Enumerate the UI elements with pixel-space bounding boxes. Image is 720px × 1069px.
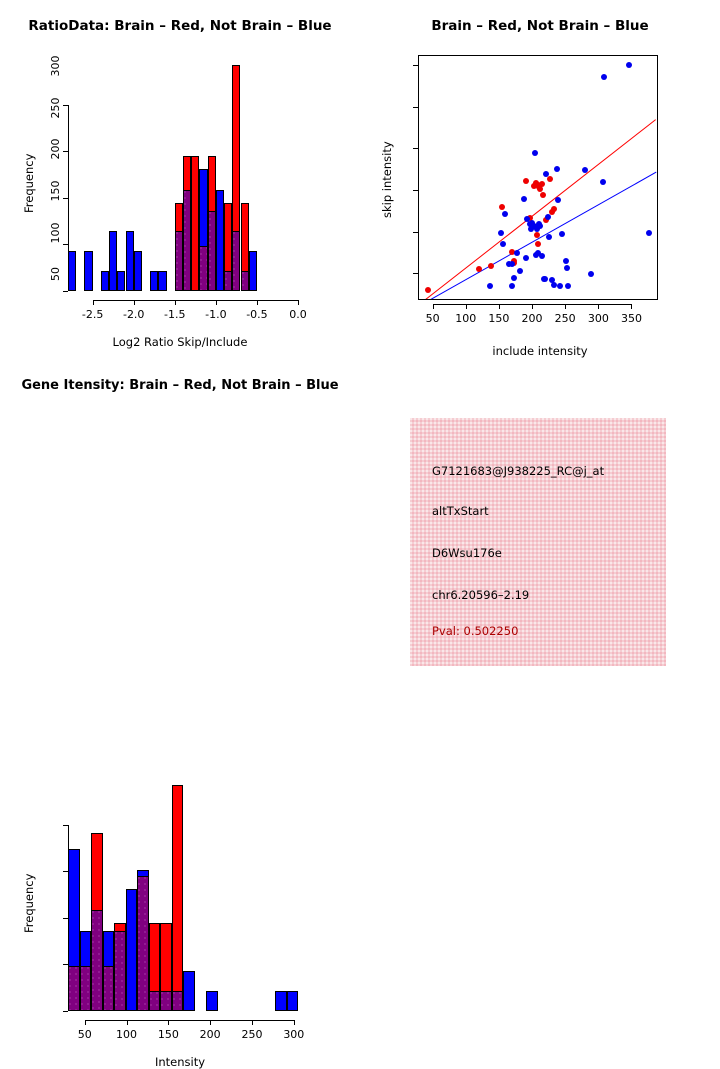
histogram-bar (84, 251, 92, 291)
scatter-point (588, 271, 594, 277)
x-axis-tick (134, 300, 135, 305)
histogram-bar-overlap (172, 991, 184, 1011)
figure-canvas: RatioData: Brain – Red, Not Brain – Blue… (0, 0, 720, 720)
x-axis-tick-label: 300 (588, 312, 609, 325)
scatter-point (563, 258, 569, 264)
scatter-plot-title: Brain – Red, Not Brain – Blue (360, 18, 720, 34)
scatter-point (545, 214, 551, 220)
scatter-point (551, 282, 557, 288)
x-axis-tick-label: 50 (426, 312, 440, 325)
y-axis-tick (63, 825, 68, 826)
scatter-point (425, 287, 431, 293)
histogram-bar-overlap (183, 190, 191, 291)
histogram-bar (150, 271, 158, 291)
scatter-point (646, 230, 652, 236)
annotation-info-box: G7121683@J938225_RC@j_at altTxStart D6Ws… (410, 418, 666, 666)
histogram-bar (117, 271, 125, 291)
histogram-bar-overlap (103, 966, 115, 1011)
scatter-point (540, 192, 546, 198)
scatter-point (488, 263, 494, 269)
x-axis-tick (257, 300, 258, 305)
gene-histogram-y-axis-label: Frequency (22, 874, 36, 933)
scatter-point (521, 196, 527, 202)
scatter-point (600, 179, 606, 185)
scatter-point (500, 241, 506, 247)
x-axis-tick-label: 0.0 (289, 308, 307, 321)
histogram-bar (158, 271, 166, 291)
histogram-bar-overlap (224, 271, 232, 291)
scatter-plot-box (418, 55, 658, 300)
scatter-point (517, 268, 523, 274)
x-axis-tick (294, 1020, 295, 1025)
probe-id-text: G7121683@J938225_RC@j_at (432, 464, 604, 478)
scatter-point (537, 223, 543, 229)
x-axis-tick (210, 1020, 211, 1025)
y-axis-tick (63, 198, 68, 199)
y-axis-tick (63, 244, 68, 245)
x-axis-tick-label: -1.5 (164, 308, 185, 321)
histogram-bar (216, 190, 224, 291)
x-axis-tick-label: 150 (488, 312, 509, 325)
y-axis-tick-label: 100 (49, 222, 62, 243)
histogram-bar (287, 991, 299, 1011)
x-axis-tick-label: -2.0 (123, 308, 144, 321)
scatter-point (499, 204, 505, 210)
histogram-bar-overlap (114, 931, 126, 1011)
scatter-point (514, 250, 520, 256)
x-axis-tick (85, 1020, 86, 1025)
scatter-x-axis-label: include intensity (360, 344, 720, 358)
x-axis-tick-label: 200 (200, 1028, 221, 1041)
histogram-bar (101, 271, 109, 291)
histogram-bar (249, 251, 257, 291)
x-axis-tick (168, 1020, 169, 1025)
panel-annotation-info: G7121683@J938225_RC@j_at altTxStart D6Ws… (360, 360, 720, 720)
x-axis-tick (127, 1020, 128, 1025)
ratio-histogram-title: RatioData: Brain – Red, Not Brain – Blue (0, 18, 360, 34)
y-axis-tick (63, 291, 68, 292)
scatter-point (523, 178, 529, 184)
scatter-point (554, 166, 560, 172)
scatter-point (539, 181, 545, 187)
x-axis-tick-label: 100 (116, 1028, 137, 1041)
scatter-point (626, 62, 632, 68)
scatter-point (565, 283, 571, 289)
y-axis-tick (413, 65, 418, 66)
histogram-bar (134, 251, 142, 291)
x-axis-tick-label: -2.5 (82, 308, 103, 321)
y-axis-tick (413, 232, 418, 233)
scatter-point (551, 206, 557, 212)
x-axis-tick (433, 304, 434, 309)
x-axis-tick (93, 300, 94, 305)
y-axis-tick-label: 250 (49, 97, 62, 118)
scatter-point (555, 197, 561, 203)
genomic-location-text: chr6.20596–2.19 (432, 588, 529, 602)
scatter-point (539, 253, 545, 259)
x-axis-tick (499, 304, 500, 309)
x-axis-tick-label: 200 (522, 312, 543, 325)
scatter-point (523, 255, 529, 261)
x-axis-tick (298, 300, 299, 305)
scatter-point (509, 261, 515, 267)
y-axis-tick-label: 150 (49, 181, 62, 202)
scatter-point (498, 230, 504, 236)
histogram-bar (172, 785, 184, 1011)
histogram-bar-overlap (232, 231, 240, 291)
y-axis-tick (63, 1011, 68, 1012)
panel-scatter-plot: Brain – Red, Not Brain – Blue skip inten… (360, 0, 720, 360)
x-axis-tick-label: 150 (158, 1028, 179, 1041)
histogram-bar (275, 991, 287, 1011)
histogram-bar-overlap (160, 991, 172, 1011)
histogram-bar (109, 231, 117, 291)
gene-histogram-x-axis-label: Intensity (0, 1055, 360, 1069)
x-axis-tick-label: 300 (283, 1028, 304, 1041)
x-axis-tick (631, 304, 632, 309)
x-axis-tick (532, 304, 533, 309)
histogram-bar (126, 889, 138, 1011)
y-axis-tick-label: 50 (49, 267, 62, 281)
x-axis-tick (216, 300, 217, 305)
ratio-histogram-x-axis-label: Log2 Ratio Skip/Include (0, 335, 360, 349)
y-axis-tick (413, 273, 418, 274)
x-axis-tick (565, 304, 566, 309)
pvalue-text: Pval: 0.502250 (432, 624, 518, 638)
x-axis-tick-label: 250 (555, 312, 576, 325)
histogram-bar-overlap (199, 246, 207, 291)
histogram-bar-overlap (68, 966, 80, 1011)
y-axis-tick-label: 300 (49, 56, 62, 77)
y-axis-tick (63, 105, 68, 106)
scatter-point (559, 231, 565, 237)
scatter-point (546, 234, 552, 240)
x-axis-tick (252, 1020, 253, 1025)
event-type-text: altTxStart (432, 504, 489, 518)
y-axis-tick-label: 200 (49, 139, 62, 160)
scatter-point (564, 265, 570, 271)
x-axis-tick (466, 304, 467, 309)
histogram-bar (206, 991, 218, 1011)
scatter-point (509, 283, 515, 289)
marker-name-text: D6Wsu176e (432, 546, 502, 560)
scatter-point (532, 150, 538, 156)
scatter-point (487, 283, 493, 289)
x-axis-tick (598, 304, 599, 309)
y-axis-tick (413, 190, 418, 191)
x-axis-spine (93, 300, 298, 301)
x-axis-tick-label: 100 (455, 312, 476, 325)
ratio-histogram-y-axis-label: Frequency (22, 154, 36, 213)
x-axis-tick-label: 250 (242, 1028, 263, 1041)
scatter-point (511, 275, 517, 281)
histogram-bar-overlap (80, 966, 92, 1011)
x-axis-spine (85, 1020, 294, 1021)
histogram-bar (68, 251, 76, 291)
scatter-point (601, 74, 607, 80)
histogram-bar (191, 156, 199, 291)
scatter-point (542, 276, 548, 282)
histogram-bar-overlap (208, 211, 216, 291)
scatter-point (557, 283, 563, 289)
histogram-bar-overlap (241, 271, 249, 291)
histogram-bar-overlap (137, 876, 149, 1011)
x-axis-tick-label: -1.0 (205, 308, 226, 321)
y-axis-tick (413, 148, 418, 149)
y-axis-tick (413, 107, 418, 108)
histogram-bar-overlap (175, 231, 183, 291)
histogram-bar-overlap (149, 991, 161, 1011)
panel-gene-intensity-histogram: Gene Itensity: Brain – Red, Not Brain – … (0, 360, 360, 720)
histogram-bar (126, 231, 134, 291)
regression-line (419, 119, 656, 300)
histogram-bar (183, 971, 195, 1011)
x-axis-tick-label: 50 (78, 1028, 92, 1041)
gene-histogram-title: Gene Itensity: Brain – Red, Not Brain – … (0, 378, 360, 393)
scatter-point (502, 211, 508, 217)
x-axis-tick-label: -0.5 (246, 308, 267, 321)
x-axis-tick-label: 350 (621, 312, 642, 325)
y-axis-tick (63, 151, 68, 152)
scatter-point (476, 266, 482, 272)
scatter-point (535, 241, 541, 247)
histogram-bar-overlap (91, 910, 103, 1011)
scatter-y-axis-label: skip intensity (380, 141, 394, 218)
x-axis-tick (175, 300, 176, 305)
